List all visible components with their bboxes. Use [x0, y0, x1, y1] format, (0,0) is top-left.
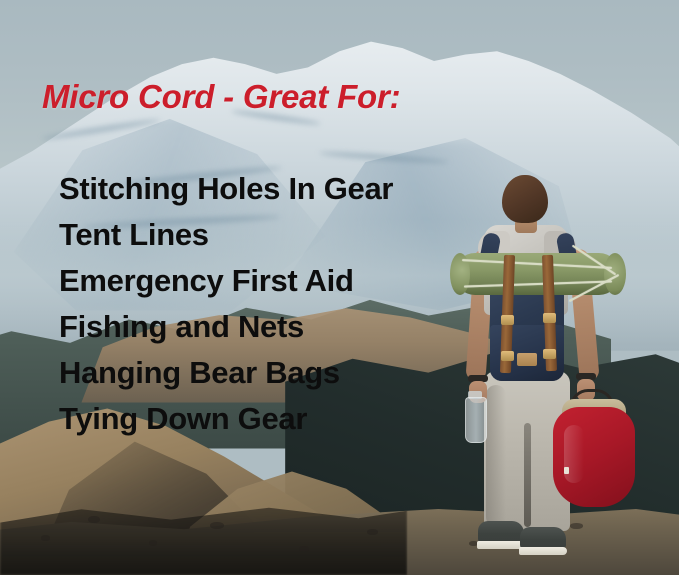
- brass-buckle: [543, 349, 556, 359]
- water-bottle: [465, 397, 487, 443]
- rock-speck: [299, 546, 309, 552]
- use-item: Hanging Bear Bags: [59, 350, 393, 396]
- brass-buckle: [543, 313, 556, 323]
- stuff-sack-highlight: [564, 425, 584, 483]
- right-shoe-sole: [519, 547, 567, 555]
- right-shoe: [520, 527, 566, 549]
- use-item: Tent Lines: [59, 212, 393, 258]
- brass-buckle: [501, 315, 514, 325]
- uses-list: Stitching Holes In Gear Tent Lines Emerg…: [59, 166, 393, 442]
- backpack-logo-patch: [517, 353, 537, 366]
- rock-speck: [367, 529, 378, 535]
- head: [502, 175, 548, 223]
- leg-separation: [524, 423, 531, 527]
- use-item: Stitching Holes In Gear: [59, 166, 393, 212]
- leg-shadow: [486, 385, 506, 527]
- left-shoe: [478, 521, 524, 543]
- use-item: Fishing and Nets: [59, 304, 393, 350]
- left-shoe-sole: [477, 541, 525, 549]
- poster-title: Micro Cord - Great For:: [42, 78, 400, 116]
- hiker-figure: [440, 175, 640, 575]
- stuff-sack-tag: [564, 467, 569, 474]
- use-item: Emergency First Aid: [59, 258, 393, 304]
- use-item: Tying Down Gear: [59, 396, 393, 442]
- product-poster: Micro Cord - Great For: Stitching Holes …: [0, 0, 679, 575]
- rock-speck: [41, 535, 50, 541]
- brass-buckle: [501, 351, 514, 361]
